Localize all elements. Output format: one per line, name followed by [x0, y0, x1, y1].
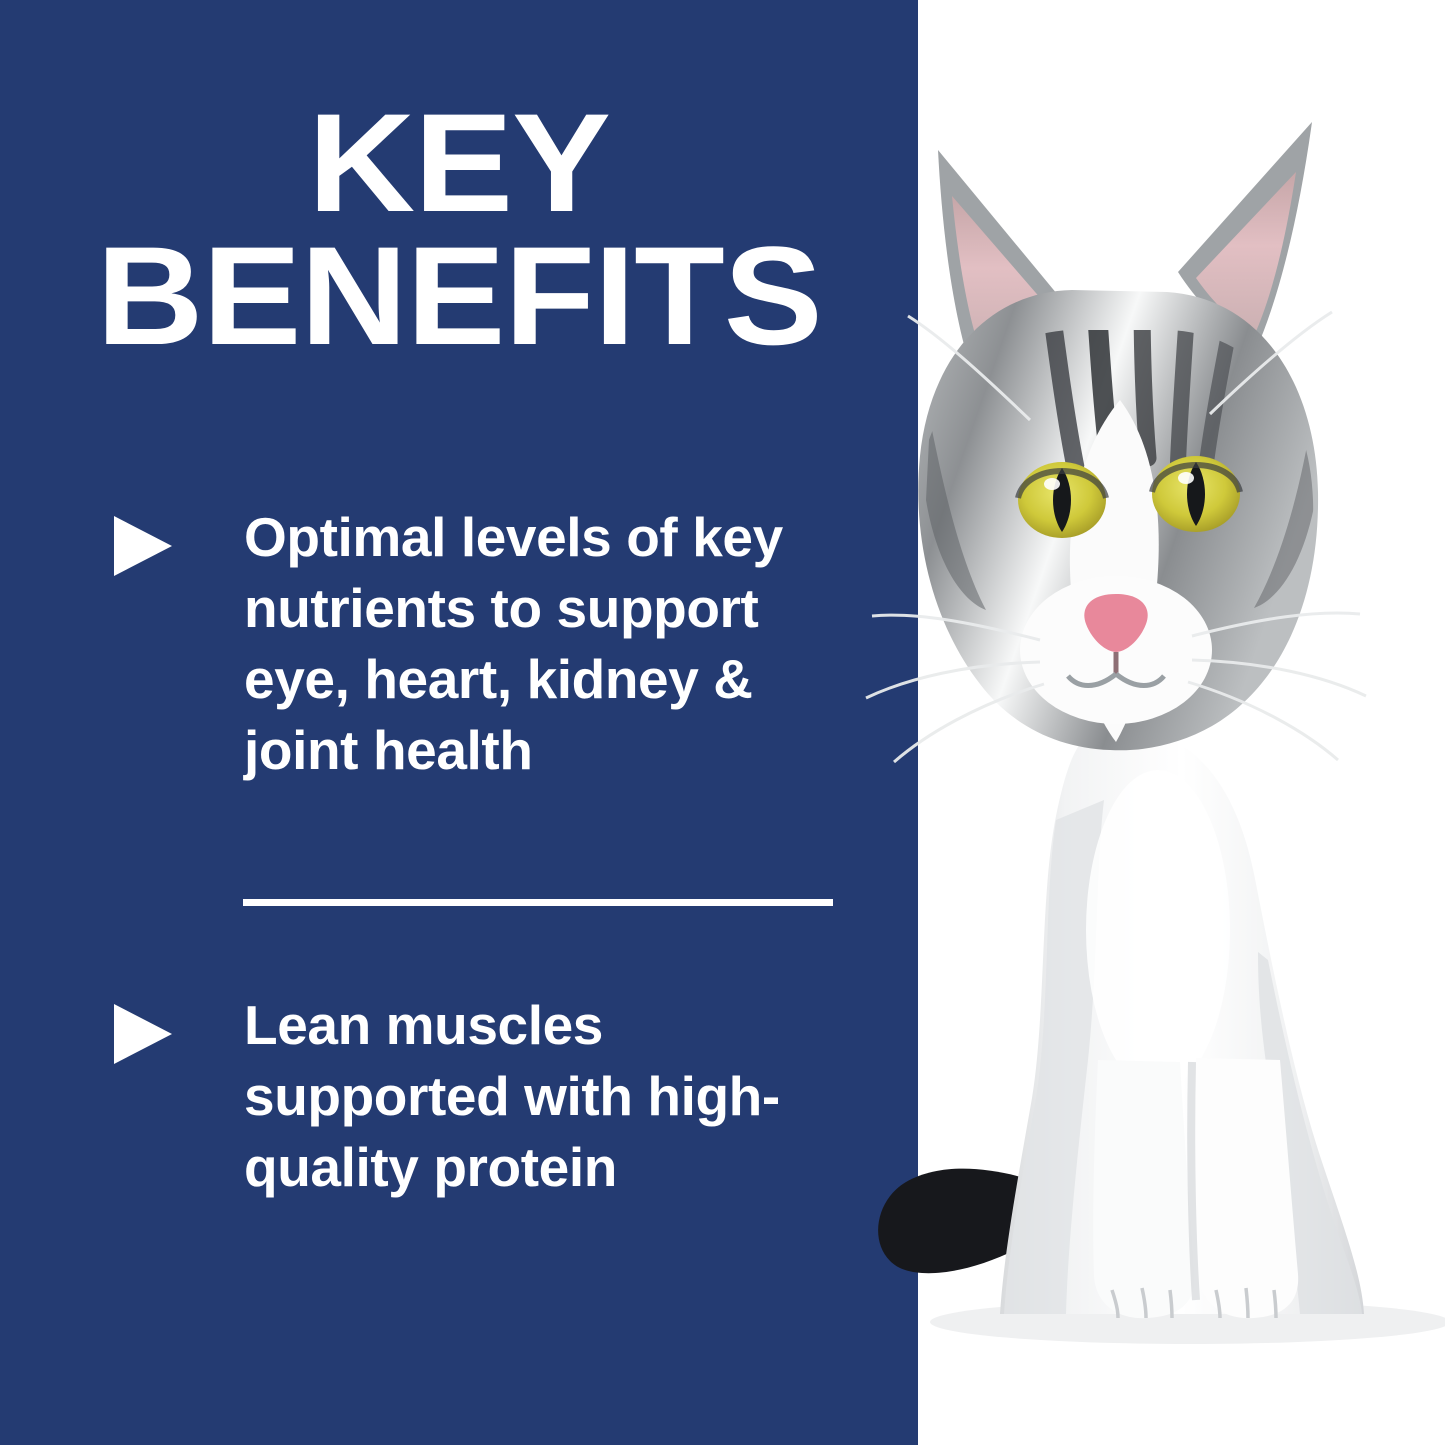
benefit-item-1-label: Optimal levels of key nutrients to suppo… [244, 502, 844, 786]
cat-body [1000, 726, 1364, 1314]
cat-eye-left [1018, 462, 1106, 538]
cat-whiskers [866, 312, 1366, 762]
cat-nose [1084, 594, 1147, 652]
cat-front-legs [1093, 1058, 1298, 1318]
benefit-item-2-label: Lean muscles supported with high-quality… [244, 990, 844, 1203]
cat-neck-ruff [1030, 520, 1284, 614]
benefit-item-1: Optimal levels of key nutrients to suppo… [114, 502, 874, 786]
triangle-bullet-icon [114, 516, 172, 576]
cat-collar [1022, 540, 1290, 660]
cat-tail [878, 1169, 1268, 1274]
floor-shadow [930, 1300, 1445, 1344]
key-benefits-poster: KEY BENEFITS Optimal levels of key nutri… [0, 0, 1445, 1445]
section-divider [243, 899, 833, 906]
page-title: KEY BENEFITS [0, 96, 946, 362]
triangle-bullet-icon [114, 1004, 172, 1064]
benefit-item-2: Lean muscles supported with high-quality… [114, 990, 874, 1203]
cat-eye-right [1152, 456, 1240, 532]
